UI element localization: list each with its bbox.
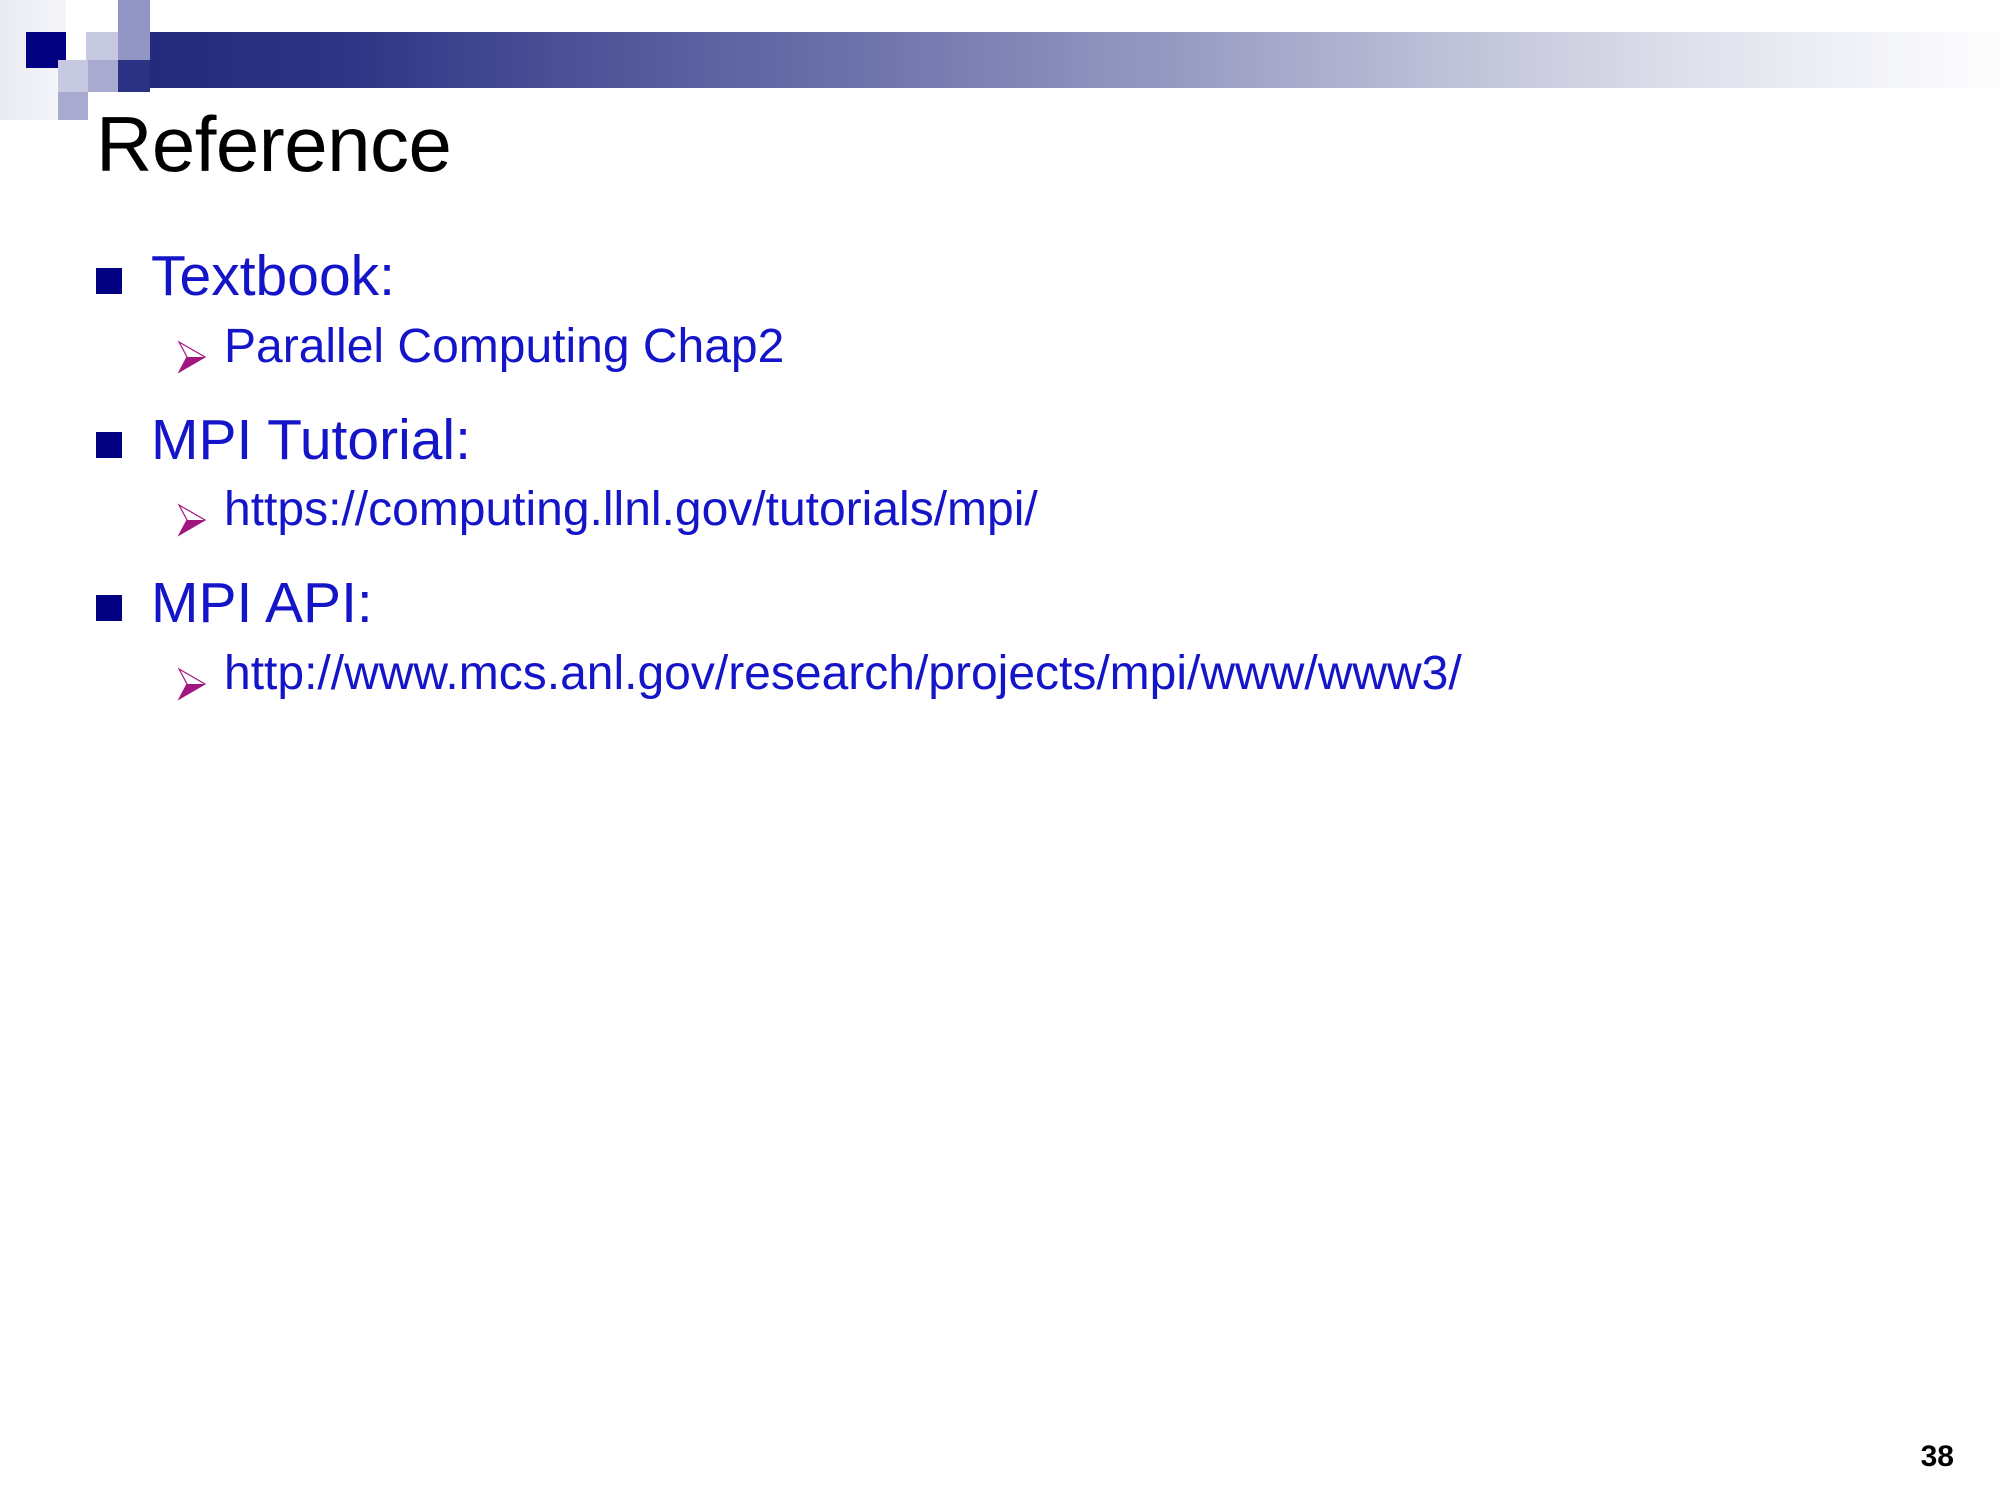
square-bullet-icon (96, 268, 122, 294)
bullet-label: http://www.mcs.anl.gov/research/projects… (224, 643, 1462, 705)
slide-body: Textbook: Parallel Computing Chap2 MPI T… (96, 242, 1886, 709)
spacer (96, 382, 1886, 406)
decor-square-5 (88, 60, 118, 92)
bullet-label: Parallel Computing Chap2 (224, 316, 784, 378)
bullet-label: Textbook: (151, 242, 395, 312)
decor-square-white-2 (66, 32, 86, 60)
decor-square-6 (58, 92, 88, 120)
arrowhead-bullet-icon (176, 497, 208, 543)
page-number: 38 (1921, 1440, 1954, 1474)
bullet-item-level1: MPI API: (96, 569, 1886, 639)
bullet-label: https://computing.llnl.gov/tutorials/mpi… (224, 479, 1038, 541)
bullet-item-level2: http://www.mcs.anl.gov/research/projects… (176, 643, 1886, 707)
spacer (96, 545, 1886, 569)
decor-square-4 (58, 60, 88, 92)
bullet-item-level1: Textbook: (96, 242, 1886, 312)
square-bullet-icon (96, 595, 122, 621)
decor-square-7 (118, 60, 150, 92)
bullet-item-level2: https://computing.llnl.gov/tutorials/mpi… (176, 479, 1886, 543)
bullet-label: MPI Tutorial: (151, 406, 471, 476)
arrowhead-bullet-icon (176, 334, 208, 380)
bullet-label: MPI API: (151, 569, 373, 639)
square-bullet-icon (96, 432, 122, 458)
header-gradient-band (148, 32, 2000, 88)
decor-square-white-1 (66, 0, 118, 32)
decor-square-2 (86, 32, 118, 60)
bullet-item-level2: Parallel Computing Chap2 (176, 316, 1886, 380)
decor-square-1 (118, 0, 150, 32)
decor-square-3 (118, 32, 150, 60)
bullet-item-level1: MPI Tutorial: (96, 406, 1886, 476)
slide-title: Reference (96, 104, 1796, 186)
arrowhead-bullet-icon (176, 661, 208, 707)
